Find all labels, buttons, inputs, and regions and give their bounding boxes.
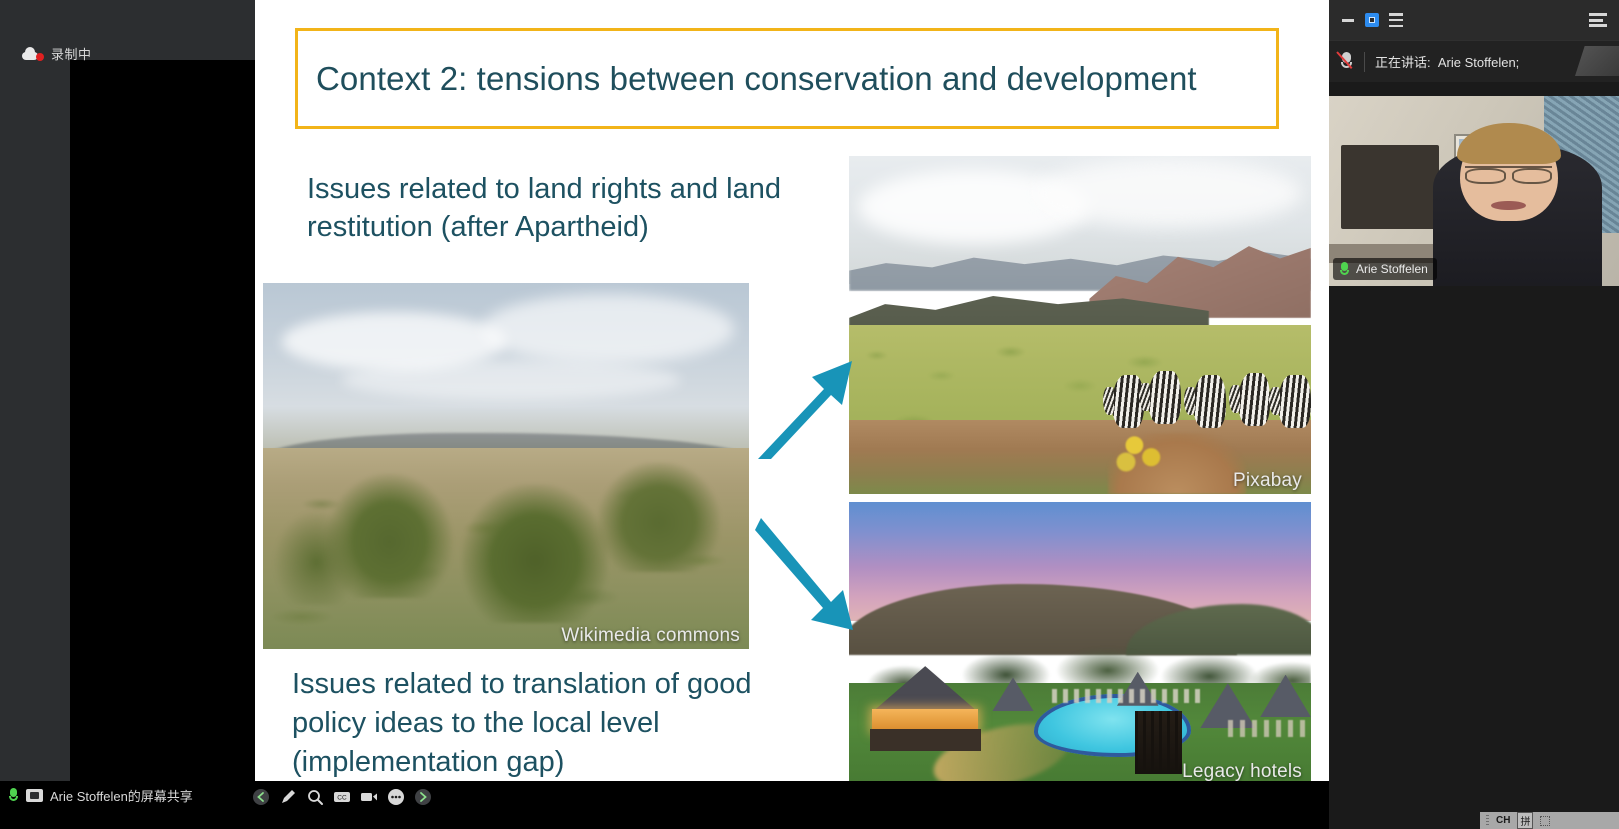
participant-video-tile[interactable]: Arie Stoffelen xyxy=(1329,96,1619,286)
mic-muted-icon[interactable] xyxy=(1339,52,1354,71)
shrub xyxy=(326,473,452,597)
zebra-savanna-photo: Pixabay xyxy=(849,156,1311,494)
screen-root: 录制中 Context 2: tensions between conserva… xyxy=(0,0,1619,829)
video-icon[interactable] xyxy=(360,788,378,806)
slide-title: Context 2: tensions between conservation… xyxy=(298,60,1197,98)
bush-landscape-photo: Wikimedia commons xyxy=(263,283,749,649)
menu-button[interactable] xyxy=(1389,13,1403,27)
screen-share-status[interactable]: Arie Stoffelen的屏幕共享 xyxy=(8,786,193,805)
cloud xyxy=(482,294,735,364)
zoom-side-panel: 正在讲话: Arie Stoffelen; Arie Stoffelen xyxy=(1329,0,1619,829)
forward-icon[interactable] xyxy=(414,788,432,806)
arrow-down-right xyxy=(755,512,860,634)
pen-icon[interactable] xyxy=(279,788,297,806)
recording-label: 录制中 xyxy=(51,44,92,63)
slide-body-text-top: Issues related to land rights and land r… xyxy=(307,170,807,247)
left-rail xyxy=(0,0,70,829)
ime-tray[interactable]: CH 拼 xyxy=(1480,812,1619,829)
svg-text:CC: CC xyxy=(337,795,347,802)
ime-language[interactable]: CH xyxy=(1496,815,1510,826)
pool-loungers xyxy=(1052,689,1200,703)
search-icon[interactable] xyxy=(306,788,324,806)
thatched-hut xyxy=(992,677,1034,711)
ime-drag-handle[interactable] xyxy=(1486,815,1489,826)
more-icon[interactable] xyxy=(387,788,405,806)
participant-mouth xyxy=(1491,201,1526,211)
ime-input-mode[interactable]: 拼 xyxy=(1517,812,1533,829)
ime-toolbox-icon[interactable] xyxy=(1540,816,1550,826)
maximize-button[interactable] xyxy=(1365,13,1379,27)
screen-share-label: Arie Stoffelen的屏幕共享 xyxy=(50,786,193,805)
mic-unmuted-icon[interactable] xyxy=(1339,262,1350,277)
zoom-panel-header xyxy=(1329,0,1619,40)
speaking-prefix: 正在讲话: xyxy=(1375,55,1431,70)
speaking-name: Arie Stoffelen; xyxy=(1438,55,1519,70)
collapse-panel-button[interactable] xyxy=(1589,13,1607,27)
arrow-up-right xyxy=(752,355,857,465)
safari-resort-photo: Legacy hotels xyxy=(849,502,1311,785)
share-status-pill xyxy=(0,0,255,29)
thatched-hut xyxy=(1260,675,1311,717)
shrub xyxy=(462,484,608,623)
slide-body-text-bottom: Issues related to translation of good po… xyxy=(292,665,762,782)
wooden-tower xyxy=(1135,711,1181,773)
participant-name-tag: Arie Stoffelen xyxy=(1333,258,1437,280)
zoom-panel-body xyxy=(1329,286,1619,777)
pool-loungers xyxy=(1228,720,1307,737)
cloud xyxy=(341,360,681,400)
glasses-icon xyxy=(1465,166,1552,179)
annotation-toolbar[interactable]: CC xyxy=(252,788,432,806)
lodge-building xyxy=(867,666,983,751)
photo-caption: Wikimedia commons xyxy=(561,625,740,647)
slide-title-box: Context 2: tensions between conservation… xyxy=(295,28,1279,129)
back-icon[interactable] xyxy=(252,788,270,806)
photo-caption: Pixabay xyxy=(1233,470,1302,492)
minimize-button[interactable] xyxy=(1341,13,1355,27)
presentation-slide: Context 2: tensions between conservation… xyxy=(255,0,1329,810)
closed-caption-icon[interactable]: CC xyxy=(333,788,351,806)
bottom-bar xyxy=(0,781,1329,829)
cloud xyxy=(1034,159,1302,227)
recording-indicator[interactable]: 录制中 xyxy=(22,44,92,63)
zebra-group xyxy=(1108,339,1311,440)
participant-name: Arie Stoffelen xyxy=(1356,262,1428,276)
photo-caption: Legacy hotels xyxy=(1182,761,1302,783)
wall-monitor xyxy=(1341,145,1440,229)
screen-share-icon xyxy=(26,789,43,802)
yellow-flowers xyxy=(1112,426,1167,473)
shrub xyxy=(598,462,720,572)
cloud-recording-icon xyxy=(22,47,44,61)
active-speaker-label: 正在讲话: Arie Stoffelen; xyxy=(1375,52,1519,71)
mic-unmuted-icon[interactable] xyxy=(8,788,19,803)
